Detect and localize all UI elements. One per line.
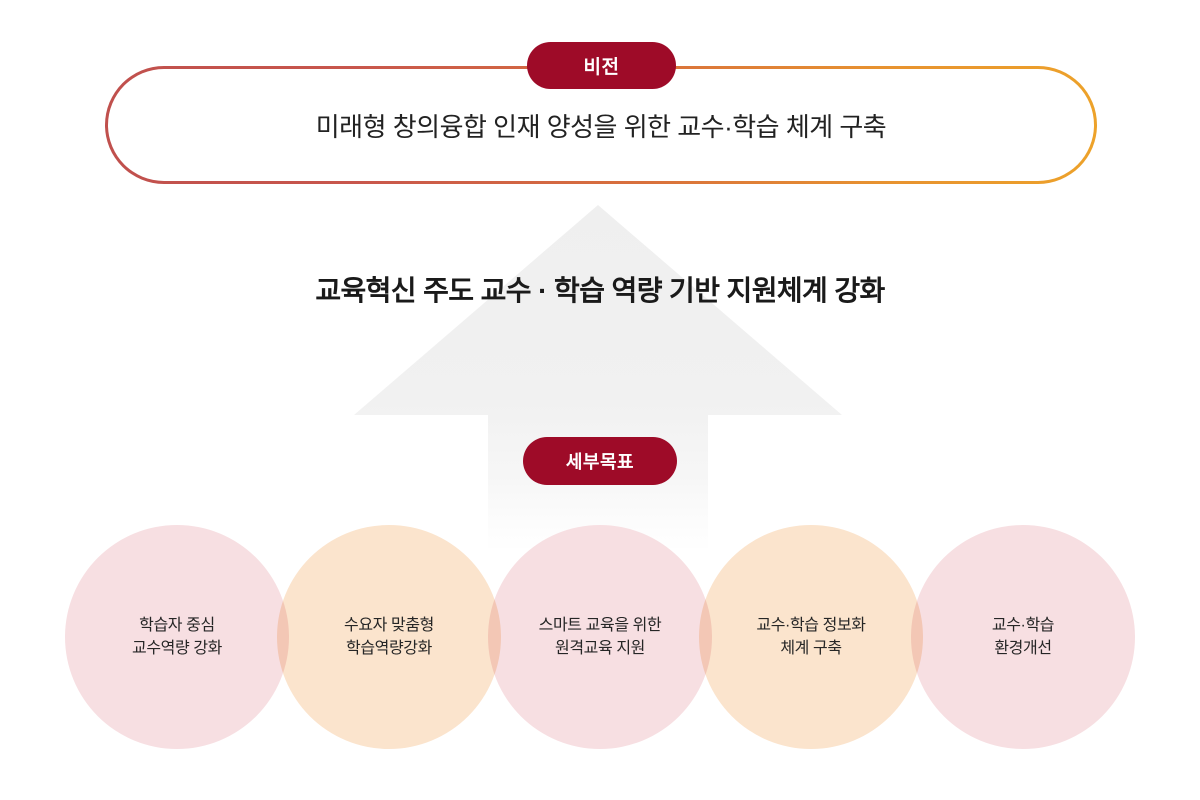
subgoal-label-4: 교수·학습 정보화 체계 구축 [699,525,923,749]
up-arrow-icon [352,203,844,548]
subgoal-badge-label: 세부목표 [566,448,634,474]
subgoal-label-1: 학습자 중심 교수역량 강화 [65,525,289,749]
subgoal-label-2-line1: 수요자 맞춤형 [344,614,434,637]
vision-badge-label: 비전 [584,52,620,79]
subgoal-label-5: 교수·학습 환경개선 [911,525,1135,749]
subgoal-label-3: 스마트 교육을 위한 원격교육 지원 [488,525,712,749]
subgoal-label-1-line2: 교수역량 강화 [132,637,222,660]
subgoal-label-5-line2: 환경개선 [994,637,1051,660]
diagram-canvas: 미래형 창의융합 인재 양성을 위한 교수·학습 체계 구축 비전 교육혁신 주… [0,0,1200,800]
subgoal-label-2: 수요자 맞춤형 학습역량강화 [277,525,501,749]
subgoal-label-5-line1: 교수·학습 [992,614,1054,637]
subgoal-circle-group: 학습자 중심 교수역량 강화 수요자 맞춤형 학습역량강화 스마트 교육을 위한… [0,525,1200,755]
subgoal-label-4-line2: 체계 구축 [780,637,841,660]
subgoal-label-3-line2: 원격교육 지원 [555,637,645,660]
subgoal-badge: 세부목표 [523,437,677,485]
subgoal-label-2-line2: 학습역량강화 [346,637,432,660]
subgoal-label-1-line1: 학습자 중심 [139,614,215,637]
vision-badge: 비전 [527,42,676,89]
strategy-heading: 교육혁신 주도 교수 · 학습 역량 기반 지원체계 강화 [0,269,1200,309]
subgoal-label-4-line1: 교수·학습 정보화 [756,614,865,637]
subgoal-label-3-line1: 스마트 교육을 위한 [539,614,662,637]
